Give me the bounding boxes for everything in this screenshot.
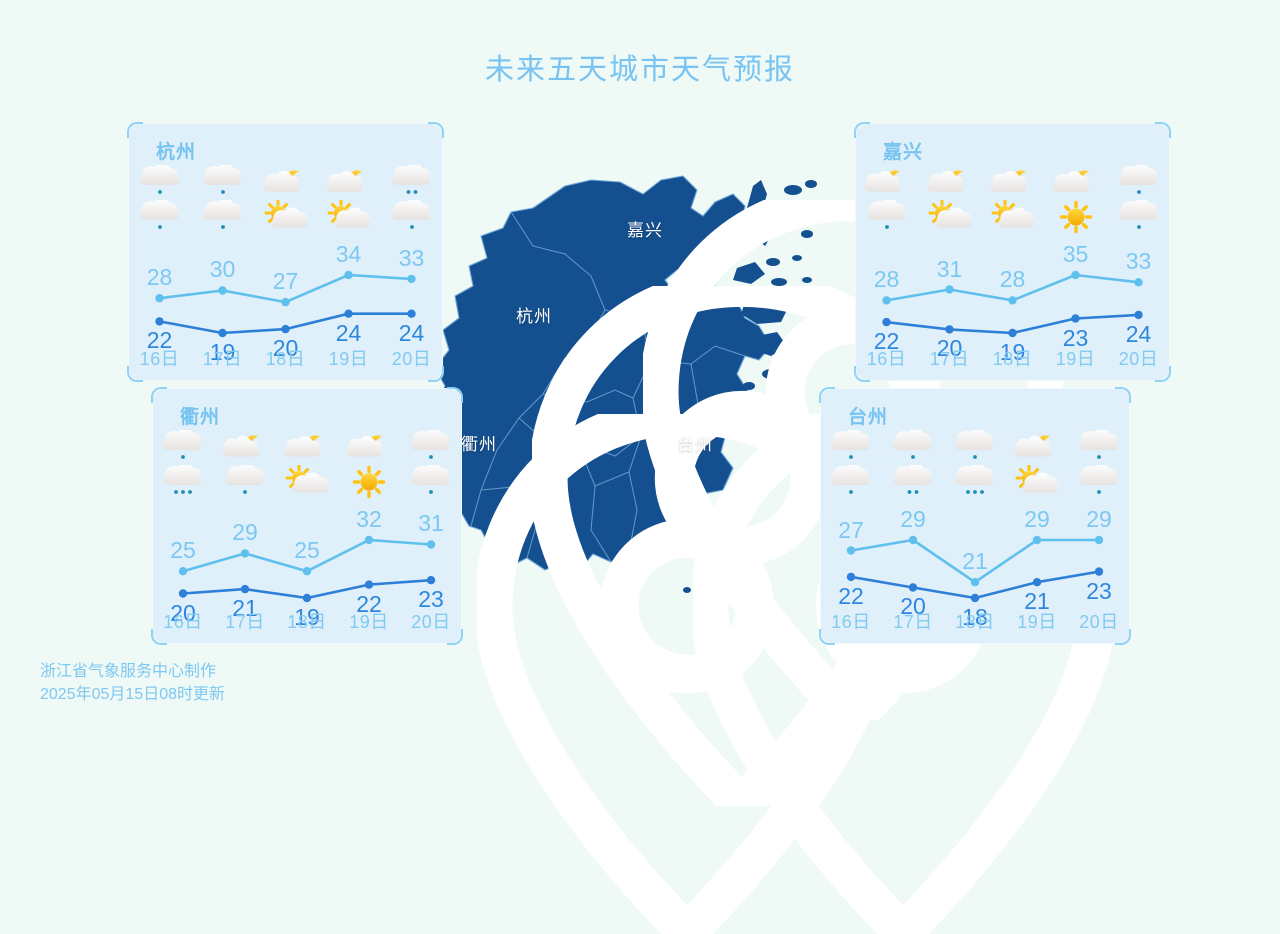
sun-cloud-icon: [326, 200, 372, 234]
date-label: 18日: [254, 345, 317, 371]
moon-cloud-icon: [326, 165, 372, 199]
date-label: 20日: [1107, 345, 1170, 371]
date-label: 16日: [820, 608, 882, 634]
card-corner-accent: [1115, 387, 1131, 403]
cloud-rain-1-icon: [222, 465, 268, 499]
cloud-rain-2-icon: [389, 165, 435, 199]
forecast-card-quzhou: 衢州: [152, 388, 462, 644]
page-title: 未来五天城市天气预报: [0, 46, 1280, 88]
high-temp-value: 31: [918, 256, 981, 283]
forecast-card-jiaxing: 嘉兴: [855, 123, 1170, 381]
footer: 浙江省气象服务中心制作 2025年05月15日08时更新: [40, 660, 225, 706]
weather-icons: [1068, 430, 1130, 499]
high-temp-value: 29: [1006, 506, 1068, 533]
map-label-hangzhou: 杭州: [516, 302, 552, 327]
weather-icons: [944, 430, 1006, 499]
cloud-rain-1-icon: [890, 430, 936, 464]
weather-icons: [317, 165, 380, 234]
weather-icons: [214, 430, 276, 499]
date-label: 20日: [380, 345, 443, 371]
date-label: 16日: [152, 608, 214, 634]
date-label: 18日: [944, 608, 1006, 634]
weather-icons: [254, 165, 317, 234]
card-corner-accent: [151, 387, 167, 403]
map-label-taizhou: 台州: [677, 430, 713, 455]
cloud-rain-1-icon: [200, 165, 246, 199]
date-label: 17日: [918, 345, 981, 371]
weather-icons: [380, 165, 443, 234]
high-temp-value: 25: [276, 537, 338, 564]
forecast-card-hangzhou: 杭州: [128, 123, 443, 381]
card-corner-accent: [819, 387, 835, 403]
cloud-rain-1-icon: [137, 165, 183, 199]
cloud-rain-1-icon: [828, 465, 874, 499]
map-pin-jiaxing: [643, 200, 656, 216]
date-label: 18日: [981, 345, 1044, 371]
date-row: 16日17日18日19日20日: [820, 608, 1130, 634]
low-temp-value: 24: [380, 320, 443, 347]
date-row: 16日17日18日19日20日: [128, 345, 443, 371]
cloud-rain-3-icon: [952, 465, 998, 499]
moon-cloud-icon: [990, 165, 1036, 199]
map-pin-quzhou: [477, 414, 490, 430]
cloud-rain-1-icon: [1076, 465, 1122, 499]
high-temp-value: 27: [820, 517, 882, 544]
low-temp-value: 24: [1107, 321, 1170, 348]
cloud-rain-1-icon: [160, 430, 206, 464]
high-temp-value: 32: [338, 506, 400, 533]
high-temp-value: 27: [254, 268, 317, 295]
sun-cloud-icon: [284, 465, 330, 499]
weather-icons: [855, 165, 918, 234]
card-city-name: 衢州: [180, 402, 220, 429]
cloud-rain-1-icon: [200, 200, 246, 234]
date-row: 16日17日18日19日20日: [152, 608, 462, 634]
high-temp-value: 33: [1107, 248, 1170, 275]
weather-icons: [882, 430, 944, 499]
cloud-rain-1-icon: [864, 200, 910, 234]
moon-cloud-icon: [864, 165, 910, 199]
sun-cloud-icon: [927, 200, 973, 234]
date-label: 16日: [855, 345, 918, 371]
cloud-rain-1-icon: [952, 430, 998, 464]
sun-cloud-icon: [263, 200, 309, 234]
footer-producer: 浙江省气象服务中心制作: [40, 660, 225, 683]
weather-icons: [1006, 430, 1068, 499]
map-label-quzhou: 衢州: [461, 430, 497, 455]
low-temp-value: 24: [317, 320, 380, 347]
sun-icon: [1053, 200, 1099, 234]
cloud-rain-1-icon: [1076, 430, 1122, 464]
weather-icons: [191, 165, 254, 234]
date-label: 19日: [1006, 608, 1068, 634]
map-label-jiaxing: 嘉兴: [627, 216, 663, 241]
date-label: 20日: [400, 608, 462, 634]
date-label: 20日: [1068, 608, 1130, 634]
moon-cloud-icon: [346, 430, 392, 464]
high-temp-value: 28: [981, 266, 1044, 293]
cloud-rain-1-icon: [1116, 165, 1162, 199]
card-corner-accent: [428, 122, 444, 138]
date-label: 19日: [1044, 345, 1107, 371]
moon-cloud-icon: [222, 430, 268, 464]
weather-icons: [981, 165, 1044, 234]
cloud-rain-1-icon: [1116, 200, 1162, 234]
high-temp-value: 25: [152, 537, 214, 564]
sun-cloud-icon: [1014, 465, 1060, 499]
weather-icons: [820, 430, 882, 499]
weather-icons: [128, 165, 191, 234]
high-temp-value: 34: [317, 241, 380, 268]
date-label: 17日: [882, 608, 944, 634]
weather-icons: [1044, 165, 1107, 234]
high-temp-value: 33: [380, 245, 443, 272]
high-temp-value: 35: [1044, 241, 1107, 268]
high-temp-value: 28: [128, 264, 191, 291]
date-row: 16日17日18日19日20日: [855, 345, 1170, 371]
moon-cloud-icon: [1053, 165, 1099, 199]
map-pin-hangzhou: [532, 286, 545, 302]
moon-cloud-icon: [263, 165, 309, 199]
zhejiang-map: 嘉兴 杭州 衢州 台州: [415, 150, 835, 670]
high-temp-value: 28: [855, 266, 918, 293]
moon-cloud-icon: [284, 430, 330, 464]
forecast-card-taizhou: 台州: [820, 388, 1130, 644]
high-temp-value: 31: [400, 510, 462, 537]
card-corner-accent: [1155, 122, 1171, 138]
high-temp-value: 29: [882, 506, 944, 533]
high-temp-value: 29: [214, 519, 276, 546]
cloud-rain-1-icon: [137, 200, 183, 234]
cloud-rain-1-icon: [408, 465, 454, 499]
high-temp-value: 30: [191, 256, 254, 283]
cloud-rain-1-icon: [828, 430, 874, 464]
date-label: 19日: [338, 608, 400, 634]
sun-cloud-icon: [990, 200, 1036, 234]
cloud-rain-2-icon: [890, 465, 936, 499]
card-corner-accent: [127, 122, 143, 138]
moon-cloud-icon: [927, 165, 973, 199]
date-label: 19日: [317, 345, 380, 371]
card-city-name: 台州: [848, 402, 888, 429]
card-city-name: 杭州: [156, 137, 196, 164]
card-corner-accent: [854, 122, 870, 138]
weather-icons: [338, 430, 400, 499]
date-label: 17日: [214, 608, 276, 634]
cloud-rain-3-icon: [160, 465, 206, 499]
date-label: 16日: [128, 345, 191, 371]
date-label: 18日: [276, 608, 338, 634]
footer-updated: 2025年05月15日08时更新: [40, 683, 225, 706]
low-temp-value: 23: [1068, 578, 1130, 605]
moon-cloud-icon: [1014, 430, 1060, 464]
sun-icon: [346, 465, 392, 499]
low-temp-value: 22: [820, 583, 882, 610]
weather-icons: [276, 430, 338, 499]
cloud-rain-1-icon: [389, 200, 435, 234]
date-label: 17日: [191, 345, 254, 371]
weather-icons: [1107, 165, 1170, 234]
weather-icons: [918, 165, 981, 234]
cloud-rain-1-icon: [408, 430, 454, 464]
map-pin-taizhou: [693, 414, 706, 430]
high-temp-value: 29: [1068, 506, 1130, 533]
weather-icons: [400, 430, 462, 499]
high-temp-value: 21: [944, 548, 1006, 575]
card-city-name: 嘉兴: [883, 137, 923, 164]
weather-icons: [152, 430, 214, 499]
